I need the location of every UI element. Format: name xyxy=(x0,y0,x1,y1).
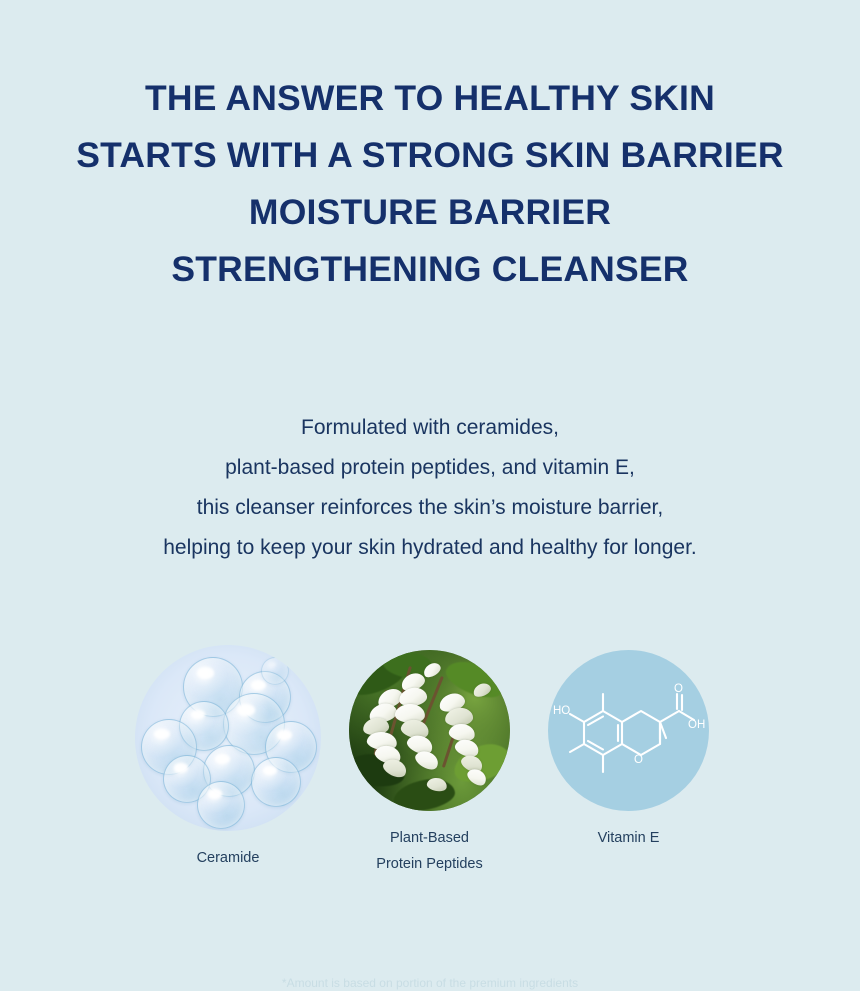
bubble-cluster xyxy=(135,645,321,831)
body-line-1: Formulated with ceramides, xyxy=(0,408,860,448)
ingredient-caption-ceramide: Ceramide xyxy=(135,845,321,871)
headline-line-1: THE ANSWER TO HEALTHY SKIN xyxy=(0,70,860,127)
body-line-2: plant-based protein peptides, and vitami… xyxy=(0,448,860,488)
label-o-carbonyl: O xyxy=(674,683,683,695)
caption-line: Plant-Based xyxy=(349,825,510,851)
vitamin-e-molecule-diagram: HO O O OH xyxy=(548,650,709,811)
headline-line-4: STRENGTHENING CLEANSER xyxy=(0,241,860,298)
caption-line: Ceramide xyxy=(135,845,321,871)
ingredient-plant-based-protein-peptides: Plant-Based Protein Peptides xyxy=(349,650,510,877)
acacia-flowers-image xyxy=(349,650,510,811)
headline-line-3: MOISTURE BARRIER xyxy=(0,184,860,241)
footnote-disclaimer: *Amount is based on portion of the premi… xyxy=(0,975,860,991)
caption-line: Vitamin E xyxy=(548,825,709,851)
label-o-ring: O xyxy=(634,754,643,766)
headline-line-2: STARTS WITH A STRONG SKIN BARRIER xyxy=(0,127,860,184)
ingredient-ceramide: Ceramide xyxy=(135,645,321,871)
flower-photo xyxy=(349,650,510,811)
ingredient-caption-vitamin-e: Vitamin E xyxy=(548,825,709,851)
page-headline: THE ANSWER TO HEALTHY SKIN STARTS WITH A… xyxy=(0,70,860,298)
caption-line: Protein Peptides xyxy=(349,851,510,877)
ceramide-bubbles-image xyxy=(135,645,321,831)
ingredient-caption-plant-based-protein-peptides: Plant-Based Protein Peptides xyxy=(349,825,510,877)
body-line-3: this cleanser reinforces the skin’s mois… xyxy=(0,488,860,528)
ingredient-vitamin-e: HO O O OH Vitamin E xyxy=(548,650,709,851)
trolox-structure-icon: HO O O OH xyxy=(548,650,709,811)
body-line-4: helping to keep your skin hydrated and h… xyxy=(0,528,860,568)
label-ho: HO xyxy=(553,705,570,717)
body-paragraph: Formulated with ceramides, plant-based p… xyxy=(0,408,860,568)
product-detail-page: THE ANSWER TO HEALTHY SKIN STARTS WITH A… xyxy=(0,0,860,986)
label-oh: OH xyxy=(688,719,705,731)
ingredients-row: Ceramide xyxy=(0,645,860,905)
